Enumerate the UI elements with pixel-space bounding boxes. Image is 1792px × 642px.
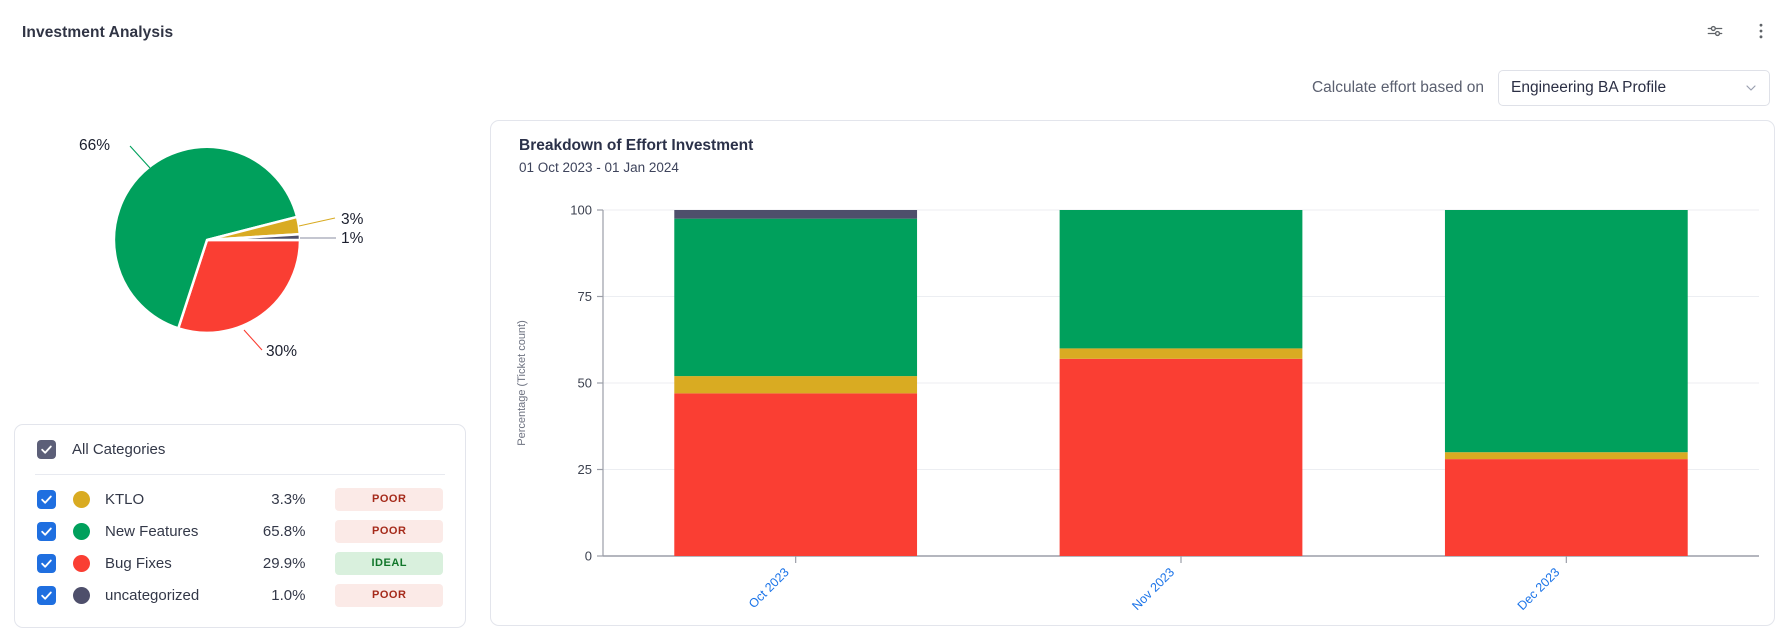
legend-item-list: KTLO3.3%POORNew Features65.8%POORBug Fix… xyxy=(15,475,465,611)
y-tick-label: 0 xyxy=(585,549,592,564)
bar-segment[interactable] xyxy=(674,210,917,219)
all-categories-label: All Categories xyxy=(72,441,165,458)
legend-color-swatch xyxy=(73,587,90,604)
page-title: Investment Analysis xyxy=(22,24,173,42)
header-actions xyxy=(1702,18,1774,44)
effort-profile-value: Engineering BA Profile xyxy=(1511,79,1743,97)
x-tick-label-dec-2023[interactable]: Dec 2023 xyxy=(1515,565,1563,613)
legend-item-percent: 1.0% xyxy=(240,587,306,604)
bar-segment[interactable] xyxy=(674,219,917,376)
y-tick-label: 100 xyxy=(570,203,592,218)
chevron-down-icon xyxy=(1743,80,1759,96)
y-axis-label: Percentage (Ticket count) xyxy=(516,320,528,446)
x-tick-label-nov-2023[interactable]: Nov 2023 xyxy=(1129,565,1177,613)
legend-checkbox[interactable] xyxy=(37,522,56,541)
legend-item-uncategorized[interactable]: uncategorized1.0%POOR xyxy=(15,579,465,611)
effort-profile-select[interactable]: Engineering BA Profile xyxy=(1498,70,1770,106)
effort-basis-control: Calculate effort based on Engineering BA… xyxy=(1312,70,1770,106)
legend-checkbox[interactable] xyxy=(37,586,56,605)
pie-label-new-features: 66% xyxy=(79,137,110,154)
x-tick-label-oct-2023[interactable]: Oct 2023 xyxy=(746,565,792,611)
bar-segment[interactable] xyxy=(674,376,917,393)
pie-label-ktlo: 3% xyxy=(341,211,364,228)
pie-label-uncategorized: 1% xyxy=(341,230,364,247)
legend-item-percent: 3.3% xyxy=(240,491,306,508)
legend-item-new-features[interactable]: New Features65.8%POOR xyxy=(15,515,465,547)
stacked-bar-chart: 0255075100Percentage (Ticket count)Oct 2… xyxy=(491,121,1776,627)
legend-item-percent: 29.9% xyxy=(240,555,306,572)
effort-breakdown-card: Breakdown of Effort Investment 01 Oct 20… xyxy=(490,120,1775,626)
pie-leader-line-bug-fixes xyxy=(244,330,262,350)
bar-segment[interactable] xyxy=(1445,459,1688,556)
pie-leader-line-new-features xyxy=(130,146,150,168)
status-badge: POOR xyxy=(335,520,443,543)
bar-segment[interactable] xyxy=(1060,210,1303,348)
status-badge: POOR xyxy=(335,488,443,511)
effort-distribution-pie-chart: 66% 3% 1% 30% xyxy=(0,128,470,398)
legend-all-categories-row[interactable]: All Categories xyxy=(15,425,465,474)
y-tick-label: 75 xyxy=(578,289,592,304)
bar-segment[interactable] xyxy=(674,393,917,556)
sliders-icon[interactable] xyxy=(1702,18,1728,44)
y-tick-label: 50 xyxy=(578,376,592,391)
y-tick-label: 25 xyxy=(578,462,592,477)
legend-color-swatch xyxy=(73,555,90,572)
legend-item-label: New Features xyxy=(105,523,240,540)
legend-checkbox[interactable] xyxy=(37,490,56,509)
pie-label-bug-fixes: 30% xyxy=(266,343,297,360)
legend-item-bug-fixes[interactable]: Bug Fixes29.9%IDEAL xyxy=(15,547,465,579)
pie-leader-line-ktlo xyxy=(299,218,335,226)
more-vertical-icon[interactable] xyxy=(1748,18,1774,44)
bar-segment[interactable] xyxy=(1060,359,1303,556)
status-badge: POOR xyxy=(335,584,443,607)
legend-item-ktlo[interactable]: KTLO3.3%POOR xyxy=(15,483,465,515)
status-badge: IDEAL xyxy=(335,552,443,575)
legend-item-label: Bug Fixes xyxy=(105,555,240,572)
legend-item-label: uncategorized xyxy=(105,587,240,604)
legend-color-swatch xyxy=(73,523,90,540)
bar-segment[interactable] xyxy=(1445,210,1688,452)
legend-color-swatch xyxy=(73,491,90,508)
app-header: Investment Analysis xyxy=(0,0,1792,62)
bar-segment[interactable] xyxy=(1445,452,1688,459)
legend-item-percent: 65.8% xyxy=(240,523,306,540)
category-legend-card: All Categories KTLO3.3%POORNew Features6… xyxy=(14,424,466,628)
effort-basis-label: Calculate effort based on xyxy=(1312,79,1484,97)
all-categories-checkbox[interactable] xyxy=(37,440,56,459)
bar-segment[interactable] xyxy=(1060,348,1303,358)
legend-checkbox[interactable] xyxy=(37,554,56,573)
legend-item-label: KTLO xyxy=(105,491,240,508)
